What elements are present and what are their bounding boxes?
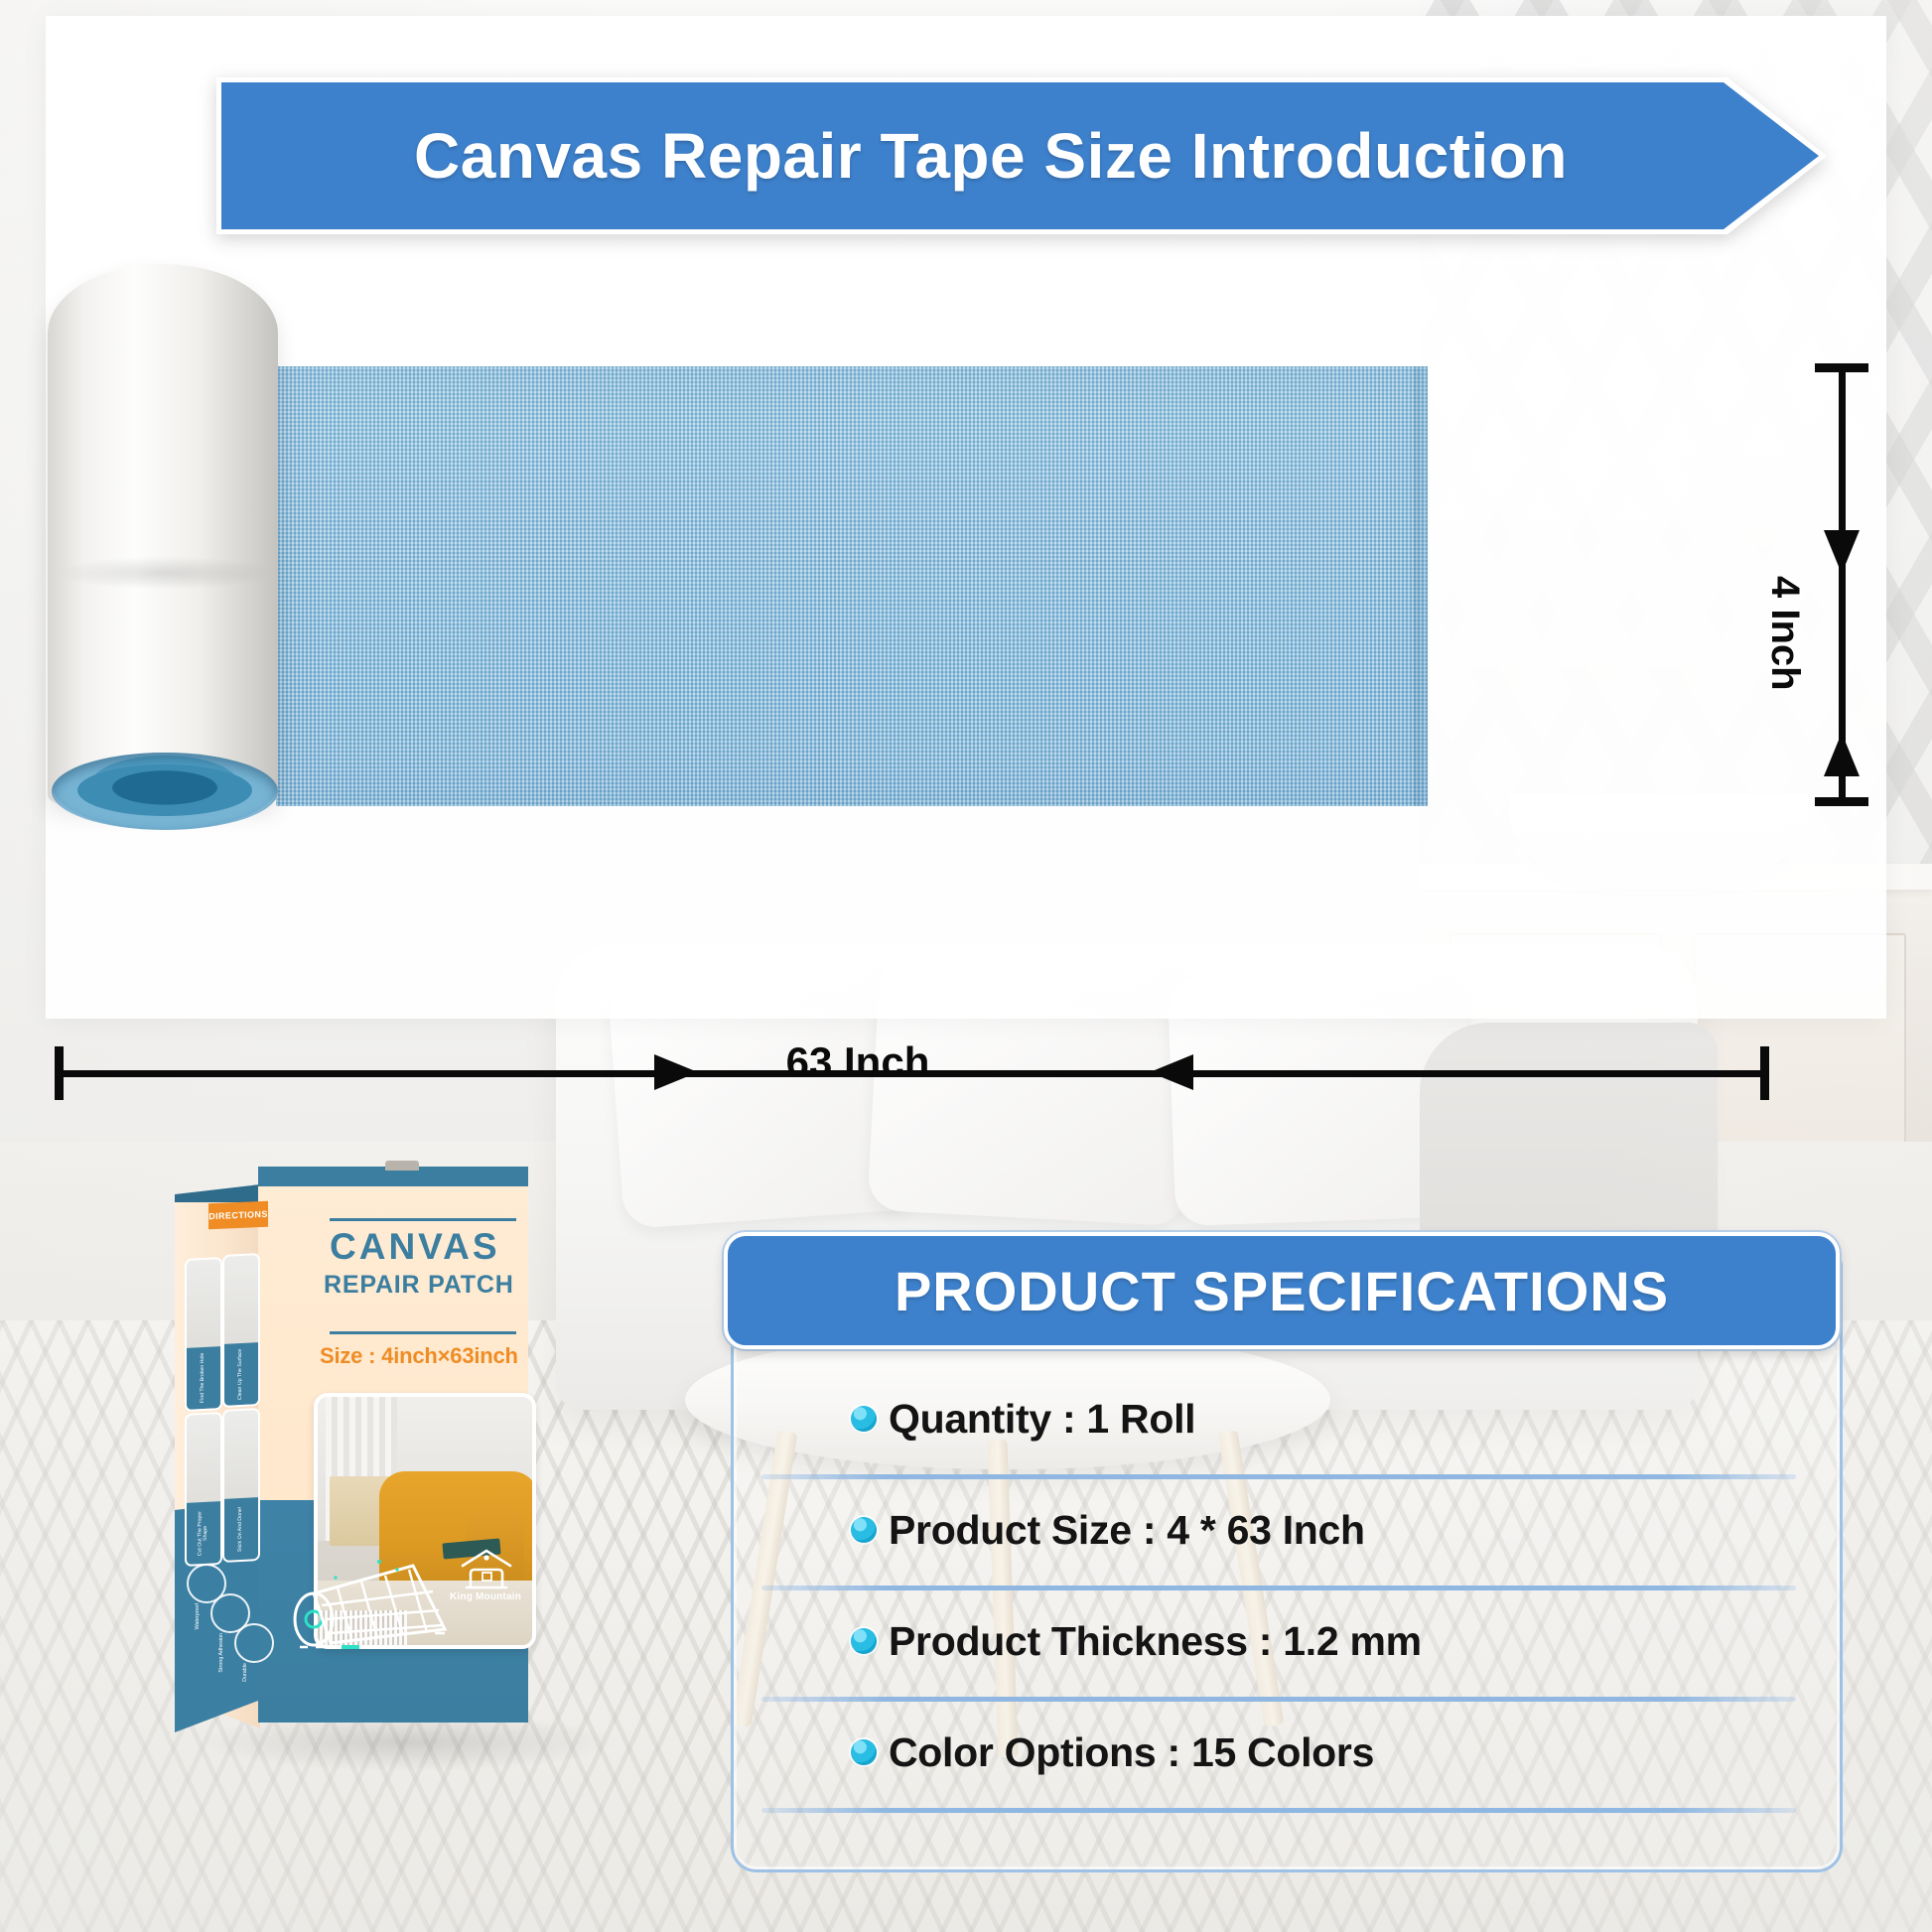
- tape-strip-end-shadow: [1414, 366, 1430, 806]
- spec-item-text: Color Options : 15 Colors: [889, 1729, 1374, 1776]
- spec-item-product-size: Product Size : 4 * 63 Inch: [734, 1474, 1840, 1586]
- spec-item-product-thickness: Product Thickness : 1.2 mm: [734, 1586, 1840, 1697]
- spec-item-text: Quantity : 1 Roll: [889, 1396, 1195, 1443]
- spec-item-text: Product Thickness : 1.2 mm: [889, 1618, 1422, 1665]
- tape-roll-core-opening: [52, 753, 278, 830]
- direction-step-label: Find The Broken Hole: [187, 1346, 220, 1410]
- tape-roll-body: [48, 264, 278, 804]
- arrow-down-icon: [1824, 530, 1860, 574]
- title-banner: Canvas Repair Tape Size Introduction: [216, 77, 1827, 234]
- direction-step-label: Stick On And Done!: [224, 1497, 258, 1561]
- box-rule-top: [330, 1218, 516, 1221]
- spec-item-color-options: Color Options : 15 Colors: [734, 1697, 1840, 1808]
- bullet-dot-icon: [851, 1406, 877, 1432]
- box-tape-illustration: [286, 1548, 455, 1667]
- brand-name: King Mountain: [445, 1591, 526, 1602]
- spec-divider: [761, 1808, 1796, 1813]
- spec-item-text: Product Size : 4 * 63 Inch: [889, 1507, 1365, 1554]
- durable-icon: [234, 1623, 274, 1663]
- box-rule-bottom: [330, 1331, 516, 1334]
- spec-divider: [761, 1474, 1796, 1479]
- product-specifications-panel: PRODUCT SPECIFICATIONS Quantity : 1 Roll…: [731, 1241, 1843, 1872]
- box-title-line1: CANVAS: [330, 1228, 524, 1265]
- height-dimension-line: [1833, 363, 1851, 806]
- spec-item-quantity: Quantity : 1 Roll: [734, 1363, 1840, 1474]
- tape-roll-line-art-icon: [286, 1548, 455, 1667]
- arrow-right-icon: [654, 1054, 698, 1090]
- spec-divider: [761, 1697, 1796, 1702]
- dimension-cap-bottom: [1815, 797, 1868, 806]
- direction-step-thumb: Stick On And Done!: [222, 1408, 260, 1563]
- height-dimension-label: 4 Inch: [1762, 576, 1807, 691]
- canvas-tape-strip: [276, 366, 1428, 806]
- tape-roll-shadow: [56, 556, 274, 590]
- dimension-cap-right: [1760, 1046, 1769, 1100]
- box-size-text: Size : 4inch×63inch: [320, 1345, 530, 1367]
- infographic-canvas: Canvas Repair Tape Size Introduction 4 I…: [0, 0, 1932, 1932]
- tape-roll: [48, 264, 278, 820]
- bullet-dot-icon: [851, 1628, 877, 1654]
- feature-label: Strong Adhesion: [218, 1633, 224, 1673]
- box-hang-tab: [385, 1161, 419, 1171]
- width-dimension-label: 63 Inch: [739, 1038, 977, 1086]
- specifications-header: PRODUCT SPECIFICATIONS: [724, 1232, 1840, 1349]
- arrow-left-icon: [1150, 1054, 1193, 1090]
- bullet-dot-icon: [851, 1517, 877, 1543]
- direction-step-thumb: Clean Up The Surface: [222, 1253, 260, 1408]
- box-feature-icons: Waterproof Strong Adhesion Durable: [187, 1558, 264, 1707]
- feature-label: Durable: [242, 1663, 248, 1682]
- feature-label: Waterproof: [195, 1603, 201, 1629]
- direction-step-thumb: Find The Broken Hole: [185, 1257, 222, 1412]
- arrow-up-icon: [1824, 733, 1860, 776]
- product-package-box: Find The Broken Hole Clean Up The Surfac…: [175, 1147, 631, 1762]
- box-title-line2: REPAIR PATCH: [324, 1273, 528, 1298]
- direction-step-label: Cut Out The Proper Shape: [187, 1501, 220, 1565]
- direction-step-thumb: Cut Out The Proper Shape: [185, 1412, 222, 1567]
- brand-house-sofa-icon: [459, 1548, 514, 1593]
- box-directions-steps: Find The Broken Hole Clean Up The Surfac…: [185, 1258, 262, 1576]
- spec-divider: [761, 1586, 1796, 1590]
- direction-step-label: Clean Up The Surface: [224, 1342, 258, 1406]
- directions-badge: DIRECTIONS: [208, 1201, 268, 1230]
- banner-title-text: Canvas Repair Tape Size Introduction: [216, 77, 1765, 234]
- bullet-dot-icon: [851, 1739, 877, 1765]
- box-side-top-stripe: [175, 1184, 260, 1202]
